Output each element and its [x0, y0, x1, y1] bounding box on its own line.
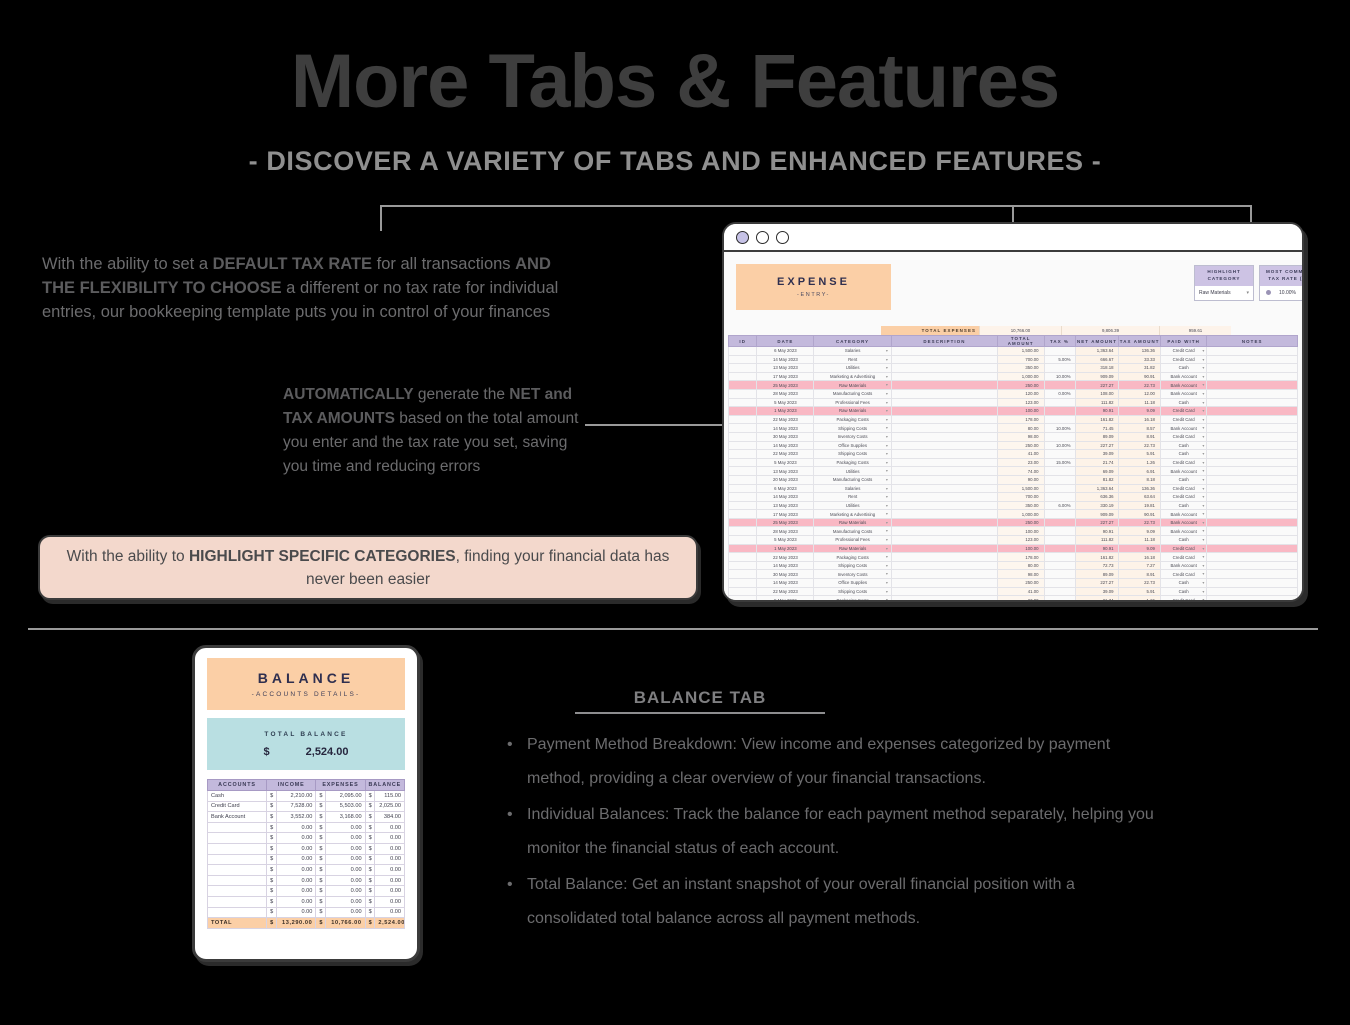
table-row[interactable]: 22 May 2023Shipping Costs▾41.0039.095.91…: [729, 450, 1298, 459]
cell-balance[interactable]: 115.00: [375, 791, 405, 802]
cell-notes[interactable]: [1207, 432, 1298, 441]
cell-net[interactable]: 161.82: [1075, 553, 1119, 562]
table-row[interactable]: 17 May 2023Marketing & Advertising▾1,000…: [729, 372, 1298, 381]
cell-taxamt[interactable]: 22.73: [1119, 381, 1160, 390]
cell-id[interactable]: [729, 475, 757, 484]
cell-balance[interactable]: 0.00: [375, 822, 405, 833]
cell-tax[interactable]: [1044, 553, 1075, 562]
cell-cat[interactable]: Shipping Costs▾: [814, 450, 892, 459]
cell-tax[interactable]: [1044, 493, 1075, 502]
cell-id[interactable]: [729, 527, 757, 536]
cell-notes[interactable]: [1207, 458, 1298, 467]
table-row[interactable]: $0.00$0.00$0.00: [208, 854, 405, 865]
cell-paid[interactable]: Cash▾: [1160, 579, 1207, 588]
cell-date[interactable]: 14 May 2023: [757, 355, 814, 364]
cell-notes[interactable]: [1207, 544, 1298, 553]
cell-id[interactable]: [729, 381, 757, 390]
cell-desc[interactable]: [891, 441, 997, 450]
cell-net[interactable]: 90.91: [1075, 407, 1119, 416]
cell-paid[interactable]: Cash▾: [1160, 441, 1207, 450]
cell-paid[interactable]: Credit Card▾: [1160, 493, 1207, 502]
cell-balance[interactable]: 0.00: [375, 896, 405, 907]
cell-notes[interactable]: [1207, 424, 1298, 433]
table-row[interactable]: 28 May 2023Manufacturing Costs▾120.000.0…: [729, 389, 1298, 398]
cell-taxamt[interactable]: 16.18: [1119, 415, 1160, 424]
chevron-down-icon[interactable]: ▾: [886, 597, 888, 602]
cell-total[interactable]: 41.00: [997, 587, 1044, 596]
cell-id[interactable]: [729, 364, 757, 373]
cell-taxamt[interactable]: 7.27: [1119, 561, 1160, 570]
table-row[interactable]: 30 May 2023Inventory Costs▾98.0089.098.9…: [729, 570, 1298, 579]
cell-desc[interactable]: [891, 347, 997, 356]
cell-income[interactable]: 0.00: [276, 833, 315, 844]
cell-net[interactable]: 89.09: [1075, 570, 1119, 579]
cell-tax[interactable]: [1044, 347, 1075, 356]
cell-date[interactable]: 22 May 2023: [757, 450, 814, 459]
cell-expenses[interactable]: 2,095.00: [326, 791, 365, 802]
cell-net[interactable]: 318.18: [1075, 364, 1119, 373]
chevron-down-icon[interactable]: ▾: [886, 571, 888, 576]
cell-date[interactable]: 20 May 2023: [757, 475, 814, 484]
cell-id[interactable]: [729, 596, 757, 602]
cell-tax[interactable]: [1044, 415, 1075, 424]
chevron-down-icon[interactable]: ▾: [1246, 290, 1249, 296]
cell-paid[interactable]: Credit Card▾: [1160, 407, 1207, 416]
cell-total[interactable]: 41.00: [997, 450, 1044, 459]
cell-expenses[interactable]: 0.00: [326, 822, 365, 833]
cell-tax[interactable]: [1044, 484, 1075, 493]
cell-cat[interactable]: Professional Fees▾: [814, 536, 892, 545]
cell-notes[interactable]: [1207, 364, 1298, 373]
cell-date[interactable]: 30 May 2023: [757, 570, 814, 579]
table-row[interactable]: $0.00$0.00$0.00: [208, 843, 405, 854]
cell-balance[interactable]: 0.00: [375, 907, 405, 918]
cell-income[interactable]: 0.00: [276, 854, 315, 865]
chevron-down-icon[interactable]: ▾: [886, 537, 888, 542]
cell-net[interactable]: 909.09: [1075, 372, 1119, 381]
chevron-down-icon[interactable]: ▾: [886, 511, 888, 516]
table-row[interactable]: 30 May 2023Inventory Costs▾98.0089.098.9…: [729, 432, 1298, 441]
table-row[interactable]: 20 May 2023Manufacturing Costs▾90.0081.8…: [729, 475, 1298, 484]
cell-total[interactable]: 700.00: [997, 493, 1044, 502]
cell-date[interactable]: 5 May 2023: [757, 596, 814, 602]
cell-paid[interactable]: Credit Card▾: [1160, 553, 1207, 562]
table-row[interactable]: $0.00$0.00$0.00: [208, 822, 405, 833]
cell-net[interactable]: 21.74: [1075, 458, 1119, 467]
cell-notes[interactable]: [1207, 501, 1298, 510]
chevron-down-icon[interactable]: ▾: [1202, 537, 1204, 542]
cell-id[interactable]: [729, 432, 757, 441]
chevron-down-icon[interactable]: ▾: [1202, 408, 1204, 413]
cell-cat[interactable]: Packaging Costs▾: [814, 415, 892, 424]
table-row[interactable]: 14 May 2023Shipping Costs▾80.0072.737.27…: [729, 561, 1298, 570]
cell-notes[interactable]: [1207, 467, 1298, 476]
cell-date[interactable]: 22 May 2023: [757, 587, 814, 596]
chevron-down-icon[interactable]: ▾: [1202, 451, 1204, 456]
cell-notes[interactable]: [1207, 536, 1298, 545]
chevron-down-icon[interactable]: ▾: [886, 357, 888, 362]
cell-notes[interactable]: [1207, 415, 1298, 424]
cell-taxamt[interactable]: 12.00: [1119, 389, 1160, 398]
cell-date[interactable]: 13 May 2023: [757, 364, 814, 373]
cell-date[interactable]: 5 May 2023: [757, 458, 814, 467]
cell-paid[interactable]: Credit Card▾: [1160, 415, 1207, 424]
cell-paid[interactable]: Cash▾: [1160, 475, 1207, 484]
cell-desc[interactable]: [891, 398, 997, 407]
cell-notes[interactable]: [1207, 398, 1298, 407]
cell-net[interactable]: 69.09: [1075, 467, 1119, 476]
cell-taxamt[interactable]: 9.09: [1119, 544, 1160, 553]
cell-notes[interactable]: [1207, 493, 1298, 502]
chevron-down-icon[interactable]: ▾: [1202, 382, 1204, 387]
cell-notes[interactable]: [1207, 484, 1298, 493]
cell-id[interactable]: [729, 441, 757, 450]
table-row[interactable]: 22 May 2023Shipping Costs▾41.0039.095.91…: [729, 587, 1298, 596]
chevron-down-icon[interactable]: ▾: [886, 589, 888, 594]
table-row[interactable]: 28 May 2023Manufacturing Costs▾100.0090.…: [729, 527, 1298, 536]
cell-income[interactable]: 13,290.00: [276, 918, 315, 929]
cell-expenses[interactable]: 10,766.00: [326, 918, 365, 929]
table-row[interactable]: $0.00$0.00$0.00: [208, 907, 405, 918]
cell-date[interactable]: 25 May 2023: [757, 381, 814, 390]
cell-taxamt[interactable]: 11.18: [1119, 398, 1160, 407]
cell-desc[interactable]: [891, 536, 997, 545]
cell-total[interactable]: 178.00: [997, 415, 1044, 424]
chevron-down-icon[interactable]: ▾: [1202, 520, 1204, 525]
cell-tax[interactable]: [1044, 527, 1075, 536]
cell-cat[interactable]: Utilities▾: [814, 501, 892, 510]
cell-account[interactable]: [208, 886, 267, 897]
table-row[interactable]: 13 May 2023Utilities▾350.006.00%330.1919…: [729, 501, 1298, 510]
table-row[interactable]: 5 May 2023Professional Fees▾123.00111.82…: [729, 536, 1298, 545]
cell-desc[interactable]: [891, 467, 997, 476]
cell-paid[interactable]: Credit Card▾: [1160, 458, 1207, 467]
cell-taxamt[interactable]: 33.33: [1119, 355, 1160, 364]
table-row[interactable]: 1 May 2023Raw Materials▾100.0090.919.09C…: [729, 407, 1298, 416]
cell-expenses[interactable]: 0.00: [326, 843, 365, 854]
cell-date[interactable]: 22 May 2023: [757, 415, 814, 424]
cell-tax[interactable]: [1044, 407, 1075, 416]
highlight-category-widget[interactable]: HIGHLIGHT CATEGORY Raw Materials ▾: [1194, 265, 1254, 301]
cell-taxamt[interactable]: 6.91: [1119, 467, 1160, 476]
cell-notes[interactable]: [1207, 389, 1298, 398]
chevron-down-icon[interactable]: ▾: [886, 554, 888, 559]
table-row[interactable]: 13 May 2023Utilities▾350.00318.1831.82Ca…: [729, 364, 1298, 373]
cell-income[interactable]: 0.00: [276, 865, 315, 876]
chevron-down-icon[interactable]: ▾: [886, 400, 888, 405]
table-row[interactable]: 14 May 2023Office Supplies▾250.00227.272…: [729, 579, 1298, 588]
cell-cat[interactable]: Marketing & Advertising▾: [814, 372, 892, 381]
cell-tax[interactable]: [1044, 398, 1075, 407]
cell-net[interactable]: 90.91: [1075, 527, 1119, 536]
cell-date[interactable]: 17 May 2023: [757, 510, 814, 519]
cell-total[interactable]: 250.00: [997, 579, 1044, 588]
cell-taxamt[interactable]: 22.73: [1119, 441, 1160, 450]
cell-total[interactable]: 100.00: [997, 407, 1044, 416]
cell-id[interactable]: [729, 398, 757, 407]
cell-net[interactable]: 111.82: [1075, 398, 1119, 407]
cell-paid[interactable]: Cash▾: [1160, 536, 1207, 545]
cell-paid[interactable]: Cash▾: [1160, 450, 1207, 459]
table-row[interactable]: 22 May 2023Packaging Costs▾178.00161.821…: [729, 415, 1298, 424]
cell-paid[interactable]: Cash▾: [1160, 364, 1207, 373]
cell-taxamt[interactable]: 8.18: [1119, 475, 1160, 484]
cell-income[interactable]: 0.00: [276, 896, 315, 907]
cell-notes[interactable]: [1207, 553, 1298, 562]
cell-cat[interactable]: Shipping Costs▾: [814, 587, 892, 596]
cell-id[interactable]: [729, 570, 757, 579]
cell-notes[interactable]: [1207, 510, 1298, 519]
chevron-down-icon[interactable]: ▾: [886, 580, 888, 585]
cell-cat[interactable]: Raw Materials▾: [814, 381, 892, 390]
chevron-down-icon[interactable]: ▾: [1202, 460, 1204, 465]
chevron-down-icon[interactable]: ▾: [1202, 400, 1204, 405]
cell-notes[interactable]: [1207, 441, 1298, 450]
cell-total[interactable]: 250.00: [997, 441, 1044, 450]
chevron-down-icon[interactable]: ▾: [886, 425, 888, 430]
cell-desc[interactable]: [891, 493, 997, 502]
cell-expenses[interactable]: 5,503.00: [326, 801, 365, 812]
chevron-down-icon[interactable]: ▾: [886, 503, 888, 508]
cell-desc[interactable]: [891, 553, 997, 562]
cell-total[interactable]: 100.00: [997, 527, 1044, 536]
cell-date[interactable]: 13 May 2023: [757, 501, 814, 510]
cell-id[interactable]: [729, 561, 757, 570]
table-row[interactable]: Cash$2,210.00$2,095.00$115.00: [208, 791, 405, 802]
cell-tax[interactable]: 6.00%: [1044, 501, 1075, 510]
cell-id[interactable]: [729, 450, 757, 459]
cell-total[interactable]: 700.00: [997, 355, 1044, 364]
cell-id[interactable]: [729, 579, 757, 588]
cell-paid[interactable]: Bank Account▾: [1160, 389, 1207, 398]
cell-taxamt[interactable]: 136.36: [1119, 347, 1160, 356]
cell-balance[interactable]: 384.00: [375, 812, 405, 823]
cell-income[interactable]: 0.00: [276, 907, 315, 918]
cell-total[interactable]: 1,500.00: [997, 484, 1044, 493]
cell-date[interactable]: 28 May 2023: [757, 389, 814, 398]
cell-total[interactable]: 100.00: [997, 544, 1044, 553]
cell-account[interactable]: [208, 822, 267, 833]
table-row[interactable]: 14 May 2023Rent▾700.005.00%666.6733.33Cr…: [729, 355, 1298, 364]
cell-expenses[interactable]: 0.00: [326, 833, 365, 844]
cell-expenses[interactable]: 0.00: [326, 886, 365, 897]
cell-account[interactable]: [208, 896, 267, 907]
cell-taxamt[interactable]: 22.73: [1119, 518, 1160, 527]
cell-taxamt[interactable]: 31.82: [1119, 364, 1160, 373]
cell-desc[interactable]: [891, 518, 997, 527]
cell-date[interactable]: 5 May 2023: [757, 536, 814, 545]
cell-total[interactable]: 250.00: [997, 518, 1044, 527]
cell-paid[interactable]: Bank Account▾: [1160, 372, 1207, 381]
cell-net[interactable]: 227.27: [1075, 381, 1119, 390]
cell-net[interactable]: 227.27: [1075, 579, 1119, 588]
chevron-down-icon[interactable]: ▾: [1202, 494, 1204, 499]
chevron-down-icon[interactable]: ▾: [1202, 580, 1204, 585]
cell-notes[interactable]: [1207, 475, 1298, 484]
cell-notes[interactable]: [1207, 518, 1298, 527]
cell-taxamt[interactable]: 90.91: [1119, 510, 1160, 519]
cell-expenses[interactable]: 0.00: [326, 875, 365, 886]
cell-id[interactable]: [729, 553, 757, 562]
cell-cat[interactable]: Packaging Costs▾: [814, 458, 892, 467]
table-row[interactable]: 6 May 2023Salaries▾1,500.001,363.64136.3…: [729, 347, 1298, 356]
cell-desc[interactable]: [891, 510, 997, 519]
cell-desc[interactable]: [891, 389, 997, 398]
cell-cat[interactable]: Manufacturing Costs▾: [814, 527, 892, 536]
cell-taxamt[interactable]: 8.91: [1119, 432, 1160, 441]
cell-total[interactable]: 23.00: [997, 458, 1044, 467]
cell-notes[interactable]: [1207, 407, 1298, 416]
chevron-down-icon[interactable]: ▾: [886, 374, 888, 379]
cell-tax[interactable]: 15.00%: [1044, 458, 1075, 467]
cell-balance[interactable]: 0.00: [375, 854, 405, 865]
cell-desc[interactable]: [891, 579, 997, 588]
cell-account[interactable]: TOTAL: [208, 918, 267, 929]
cell-net[interactable]: 81.82: [1075, 475, 1119, 484]
cell-date[interactable]: 28 May 2023: [757, 527, 814, 536]
chevron-down-icon[interactable]: ▾: [886, 486, 888, 491]
cell-account[interactable]: [208, 865, 267, 876]
cell-id[interactable]: [729, 407, 757, 416]
chevron-down-icon[interactable]: ▾: [886, 528, 888, 533]
cell-total[interactable]: 80.00: [997, 561, 1044, 570]
cell-account[interactable]: Bank Account: [208, 812, 267, 823]
chevron-down-icon[interactable]: ▾: [1202, 511, 1204, 516]
chevron-down-icon[interactable]: ▾: [1202, 374, 1204, 379]
cell-total[interactable]: 120.00: [997, 389, 1044, 398]
table-row[interactable]: $0.00$0.00$0.00: [208, 833, 405, 844]
cell-id[interactable]: [729, 372, 757, 381]
table-row[interactable]: 14 May 2023Office Supplies▾250.0010.00%2…: [729, 441, 1298, 450]
cell-desc[interactable]: [891, 407, 997, 416]
cell-desc[interactable]: [891, 355, 997, 364]
cell-date[interactable]: 30 May 2023: [757, 432, 814, 441]
table-row[interactable]: 14 May 2023Rent▾700.00636.3663.64Credit …: [729, 493, 1298, 502]
cell-date[interactable]: 14 May 2023: [757, 579, 814, 588]
cell-account[interactable]: [208, 875, 267, 886]
cell-tax[interactable]: [1044, 510, 1075, 519]
cell-expenses[interactable]: 3,168.00: [326, 812, 365, 823]
cell-expenses[interactable]: 0.00: [326, 907, 365, 918]
cell-id[interactable]: [729, 501, 757, 510]
chevron-down-icon[interactable]: ▾: [886, 451, 888, 456]
chevron-down-icon[interactable]: ▾: [1202, 563, 1204, 568]
cell-total[interactable]: 350.00: [997, 501, 1044, 510]
cell-total[interactable]: 1,000.00: [997, 510, 1044, 519]
chevron-down-icon[interactable]: ▾: [1202, 357, 1204, 362]
table-row[interactable]: 17 May 2023Marketing & Advertising▾1,000…: [729, 510, 1298, 519]
cell-date[interactable]: 14 May 2023: [757, 561, 814, 570]
cell-taxamt[interactable]: 9.09: [1119, 407, 1160, 416]
chevron-down-icon[interactable]: ▾: [886, 434, 888, 439]
chevron-down-icon[interactable]: ▾: [1202, 571, 1204, 576]
cell-cat[interactable]: Inventory Costs▾: [814, 432, 892, 441]
cell-desc[interactable]: [891, 587, 997, 596]
cell-tax[interactable]: [1044, 432, 1075, 441]
cell-paid[interactable]: Bank Account▾: [1160, 518, 1207, 527]
chevron-down-icon[interactable]: ▾: [1202, 348, 1204, 353]
chevron-down-icon[interactable]: ▾: [886, 348, 888, 353]
cell-notes[interactable]: [1207, 579, 1298, 588]
chevron-down-icon[interactable]: ▾: [886, 417, 888, 422]
table-row[interactable]: $0.00$0.00$0.00: [208, 896, 405, 907]
cell-notes[interactable]: [1207, 570, 1298, 579]
cell-paid[interactable]: Cash▾: [1160, 501, 1207, 510]
cell-expenses[interactable]: 0.00: [326, 896, 365, 907]
cell-cat[interactable]: Utilities▾: [814, 467, 892, 476]
cell-desc[interactable]: [891, 570, 997, 579]
cell-tax[interactable]: [1044, 518, 1075, 527]
cell-notes[interactable]: [1207, 596, 1298, 602]
cell-cat[interactable]: Manufacturing Costs▾: [814, 389, 892, 398]
chevron-down-icon[interactable]: ▾: [886, 494, 888, 499]
table-row[interactable]: 22 May 2023Packaging Costs▾178.00161.821…: [729, 553, 1298, 562]
cell-taxamt[interactable]: 8.91: [1119, 570, 1160, 579]
cell-tax[interactable]: [1044, 450, 1075, 459]
cell-desc[interactable]: [891, 424, 997, 433]
cell-income[interactable]: 7,528.00: [276, 801, 315, 812]
cell-id[interactable]: [729, 389, 757, 398]
chevron-down-icon[interactable]: ▾: [886, 563, 888, 568]
cell-account[interactable]: [208, 907, 267, 918]
cell-id[interactable]: [729, 510, 757, 519]
chevron-down-icon[interactable]: ▾: [886, 391, 888, 396]
cell-tax[interactable]: [1044, 570, 1075, 579]
cell-income[interactable]: 0.00: [276, 843, 315, 854]
cell-total[interactable]: 123.00: [997, 398, 1044, 407]
cell-id[interactable]: [729, 355, 757, 364]
table-row[interactable]: Credit Card$7,528.00$5,503.00$2,025.00: [208, 801, 405, 812]
chevron-down-icon[interactable]: ▾: [1202, 365, 1204, 370]
chevron-down-icon[interactable]: ▾: [886, 382, 888, 387]
cell-id[interactable]: [729, 518, 757, 527]
cell-account[interactable]: [208, 854, 267, 865]
table-row[interactable]: 6 May 2023Salaries▾1,500.001,363.64136.3…: [729, 484, 1298, 493]
cell-id[interactable]: [729, 587, 757, 596]
cell-paid[interactable]: Credit Card▾: [1160, 484, 1207, 493]
table-row[interactable]: 5 May 2023Packaging Costs▾23.0015.00%21.…: [729, 458, 1298, 467]
most-common-tax-rate-widget[interactable]: MOST COMMON TAX RATE (%) 10.00%: [1259, 265, 1302, 301]
cell-tax[interactable]: [1044, 364, 1075, 373]
table-row[interactable]: 5 May 2023Professional Fees▾123.00111.82…: [729, 398, 1298, 407]
cell-id[interactable]: [729, 347, 757, 356]
cell-total[interactable]: 123.00: [997, 536, 1044, 545]
table-row[interactable]: 14 May 2023Shipping Costs▾80.0010.00%71.…: [729, 424, 1298, 433]
cell-net[interactable]: 909.09: [1075, 510, 1119, 519]
chevron-down-icon[interactable]: ▾: [1202, 391, 1204, 396]
table-row[interactable]: $0.00$0.00$0.00: [208, 886, 405, 897]
cell-paid[interactable]: Credit Card▾: [1160, 347, 1207, 356]
cell-desc[interactable]: [891, 381, 997, 390]
cell-desc[interactable]: [891, 596, 997, 602]
chevron-down-icon[interactable]: ▾: [886, 546, 888, 551]
window-maximize-icon[interactable]: [776, 231, 789, 244]
cell-cat[interactable]: Professional Fees▾: [814, 398, 892, 407]
cell-net[interactable]: 161.82: [1075, 415, 1119, 424]
window-minimize-icon[interactable]: [756, 231, 769, 244]
cell-notes[interactable]: [1207, 347, 1298, 356]
cell-id[interactable]: [729, 484, 757, 493]
cell-paid[interactable]: Credit Card▾: [1160, 432, 1207, 441]
cell-desc[interactable]: [891, 432, 997, 441]
cell-income[interactable]: 2,210.00: [276, 791, 315, 802]
cell-net[interactable]: 227.27: [1075, 441, 1119, 450]
cell-desc[interactable]: [891, 450, 997, 459]
cell-date[interactable]: 14 May 2023: [757, 424, 814, 433]
cell-tax[interactable]: [1044, 544, 1075, 553]
cell-paid[interactable]: Bank Account▾: [1160, 467, 1207, 476]
cell-net[interactable]: 1,363.64: [1075, 347, 1119, 356]
